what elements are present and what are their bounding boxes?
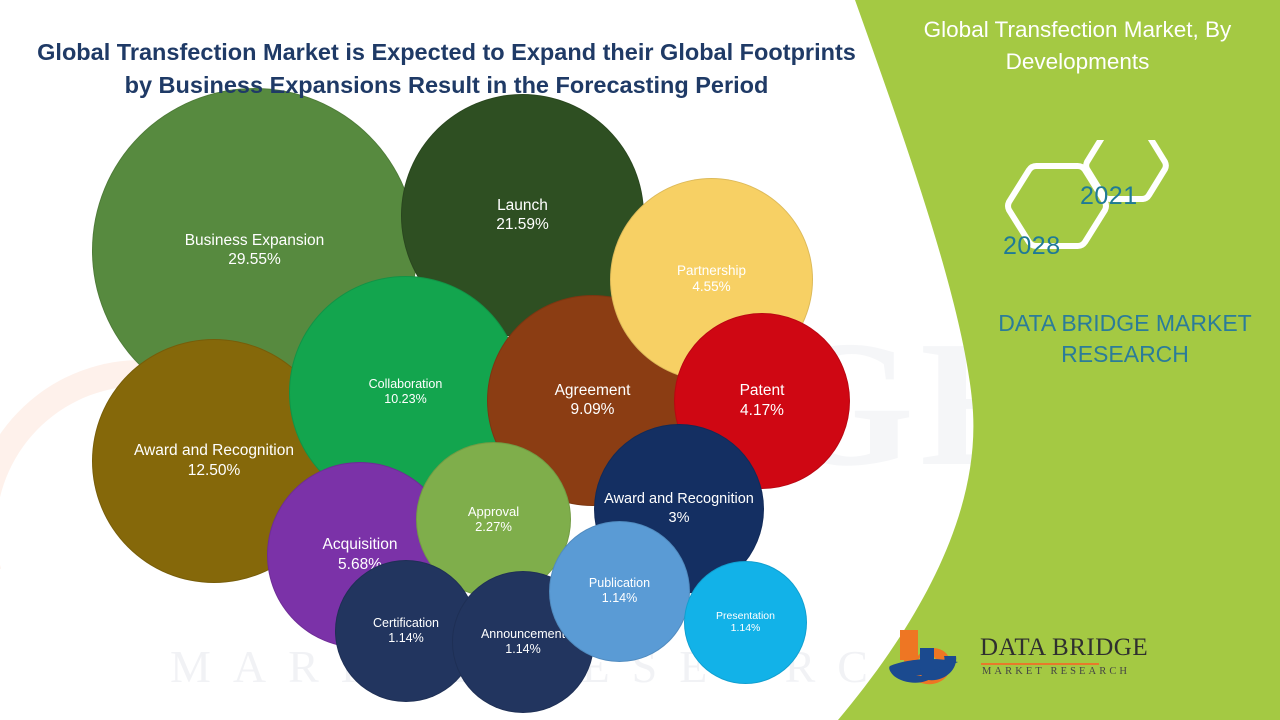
bubble-value: 4.17% [740,401,784,420]
bubble-value: 2.27% [475,519,512,535]
bubble-label: Agreement [555,382,631,401]
bubble-label: Acquisition [323,536,398,555]
bubble-label: Announcement [481,627,565,642]
bubble-label: Presentation [716,610,775,623]
bubble-value: 1.14% [602,591,637,607]
bubble-label: Approval [468,504,519,520]
bubble-label: Publication [589,576,650,591]
logo-divider [981,663,1099,665]
bubble-label: Certification [373,616,439,631]
infographic-canvas: BRIDGE MARKET RESEARCH Business Expansio… [0,0,1280,720]
hexagon-label-2028: 2028 [1003,232,1061,261]
bubble-value: 9.09% [571,400,615,419]
bubble-value: 3% [669,509,690,527]
bubble-value: 21.59% [496,215,549,234]
panel-title: Global Transfection Market, By Developme… [905,14,1250,77]
bubble-label: Business Expansion [185,232,325,251]
bubble-label: Collaboration [369,377,443,392]
bubble-label: Partnership [677,263,746,279]
bubble-value: 1.14% [388,631,423,647]
bubble-label: Award and Recognition [134,442,294,461]
bubble-value: 1.14% [505,642,540,658]
logo-mark-icon [888,626,976,690]
brand-name-text: DATA BRIDGE MARKET RESEARCH [960,308,1280,369]
logo-wordmark: DATA BRIDGE [980,634,1148,662]
bubble-value: 1.14% [731,622,761,635]
hexagon-group: 2028 2021 [985,140,1185,275]
bubble-value: 12.50% [188,461,241,480]
bubble-value: 10.23% [384,392,426,408]
bubble-value: 29.55% [228,250,281,269]
bubble-label: Award and Recognition [604,491,754,508]
bubble-label: Launch [497,197,548,216]
data-bridge-logo: DATA BRIDGE MARKET RESEARCH [888,626,1103,692]
bubble-presentation: Presentation1.14% [684,561,807,684]
logo-tagline: MARKET RESEARCH [982,666,1130,677]
bubble-value: 4.55% [692,279,730,296]
bubble-label: Patent [740,382,785,401]
hexagon-label-2021: 2021 [1080,182,1138,211]
bubble-publication: Publication1.14% [549,521,690,662]
page-title: Global Transfection Market is Expected t… [24,36,869,103]
